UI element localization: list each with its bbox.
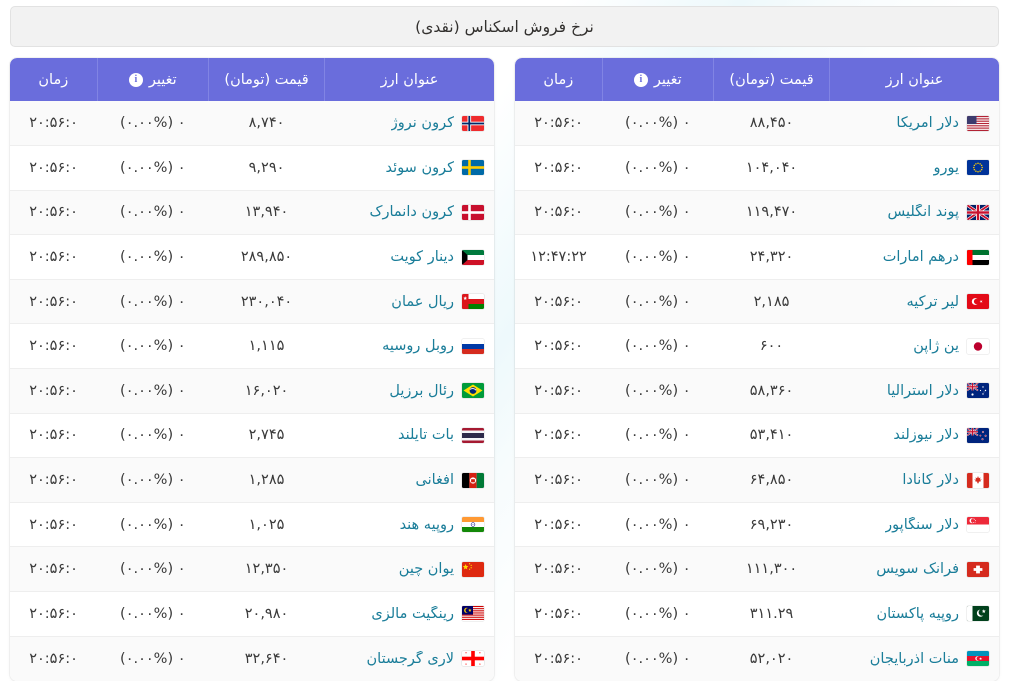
cell-change: ۰ (۰.۰۰%) [602,636,713,681]
currency-name-link[interactable]: ریال عمان [391,294,454,310]
cell-currency[interactable]: یوان چین [325,547,494,592]
currency-name-link[interactable]: کرون سوئد [386,160,454,176]
cell-currency[interactable]: روبل روسیه [325,324,494,369]
currency-name-link[interactable]: دلار سنگاپور [885,517,959,533]
info-icon[interactable]: i [634,73,648,87]
cell-change: ۰ (۰.۰۰%) [602,146,713,191]
column-header-currency-label: عنوان ارز [381,72,439,88]
table-row[interactable]: کرون نروژ۸,۷۴۰۰ (۰.۰۰%)۲۰:۵۶:۰ [10,101,494,146]
cell-change: ۰ (۰.۰۰%) [602,502,713,547]
table-row[interactable]: کرون سوئد۹,۲۹۰۰ (۰.۰۰%)۲۰:۵۶:۰ [10,146,494,191]
cell-price: ۱۱۹,۴۷۰ [713,190,829,235]
cell-change: ۰ (۰.۰۰%) [97,146,208,191]
cell-time: ۲۰:۵۶:۰ [10,101,97,146]
column-header-time-label: زمان [38,72,68,88]
currency-name-link[interactable]: ین ژاپن [913,338,959,354]
cell-time: ۲۰:۵۶:۰ [515,190,602,235]
flag-kw-icon [462,250,484,265]
currency-name-link[interactable]: درهم امارات [883,249,959,265]
cell-change: ۰ (۰.۰۰%) [97,547,208,592]
currency-name-link[interactable]: روپیه هند [400,517,454,533]
currency-name-link[interactable]: روپیه پاکستان [876,606,959,622]
cell-time: ۲۰:۵۶:۰ [515,502,602,547]
cell-time: ۲۰:۵۶:۰ [10,592,97,637]
cell-time: ۲۰:۵۶:۰ [515,279,602,324]
table-row[interactable]: دلار نیوزلند۵۳,۴۱۰۰ (۰.۰۰%)۲۰:۵۶:۰ [515,413,999,458]
table-row[interactable]: درهم امارات۲۴,۳۲۰۰ (۰.۰۰%)۱۲:۴۷:۲۲ [515,235,999,280]
cell-price: ۵۸,۳۶۰ [713,369,829,414]
cell-change: ۰ (۰.۰۰%) [97,413,208,458]
cell-price: ۱,۰۲۵ [208,502,324,547]
table-row[interactable]: دلار سنگاپور۶۹,۲۳۰۰ (۰.۰۰%)۲۰:۵۶:۰ [515,502,999,547]
cell-price: ۸۸,۴۵۰ [713,101,829,146]
cell-price: ۳۲,۶۴۰ [208,636,324,681]
flag-ca-icon [967,473,989,488]
table-row[interactable]: روپیه هند۱,۰۲۵۰ (۰.۰۰%)۲۰:۵۶:۰ [10,502,494,547]
column-header-change[interactable]: تغییرi [97,58,208,101]
table-row[interactable]: فرانک سویس۱۱۱,۳۰۰۰ (۰.۰۰%)۲۰:۵۶:۰ [515,547,999,592]
cell-change: ۰ (۰.۰۰%) [602,101,713,146]
currency-name-link[interactable]: لاری گرجستان [367,651,454,667]
cell-price: ۲۴,۳۲۰ [713,235,829,280]
cell-change: ۰ (۰.۰۰%) [602,592,713,637]
currency-name-link[interactable]: دلار استرالیا [887,383,959,399]
flag-ch-icon [967,562,989,577]
cell-time: ۲۰:۵۶:۰ [515,413,602,458]
table-row[interactable]: یوان چین۱۲,۳۵۰۰ (۰.۰۰%)۲۰:۵۶:۰ [10,547,494,592]
table-row[interactable]: دلار کانادا۶۴,۸۵۰۰ (۰.۰۰%)۲۰:۵۶:۰ [515,458,999,503]
flag-no-icon [462,116,484,131]
table-row[interactable]: پوند انگلیس۱۱۹,۴۷۰۰ (۰.۰۰%)۲۰:۵۶:۰ [515,190,999,235]
cell-change: ۰ (۰.۰۰%) [602,279,713,324]
cell-currency[interactable]: افغانی [325,458,494,503]
table-row[interactable]: کرون دانمارک۱۳,۹۴۰۰ (۰.۰۰%)۲۰:۵۶:۰ [10,190,494,235]
cell-price: ۲۳۰,۰۴۰ [208,279,324,324]
cell-currency[interactable]: لاری گرجستان [325,636,494,681]
cell-currency[interactable]: دینار کویت [325,235,494,280]
cell-currency[interactable]: ین ژاپن [830,324,999,369]
cell-currency[interactable]: کرون دانمارک [325,190,494,235]
currency-name-link[interactable]: منات آذربایجان [870,651,959,667]
cell-currency[interactable]: لیر ترکیه [830,279,999,324]
column-header-currency[interactable]: عنوان ارز [325,58,494,101]
table-right: عنوان ارزقیمت (تومان)تغییرiزماندلار آمری… [515,58,999,681]
flag-ru-icon [462,339,484,354]
flag-nz-icon [967,428,989,443]
rate-tables-container: عنوان ارزقیمت (تومان)تغییرiزماندلار آمری… [0,47,1009,681]
cell-price: ۱۶,۰۲۰ [208,369,324,414]
currency-name-link[interactable]: دلار کانادا [902,472,959,488]
cell-change: ۰ (۰.۰۰%) [97,235,208,280]
cell-change: ۰ (۰.۰۰%) [602,369,713,414]
cell-price: ۲۰,۹۸۰ [208,592,324,637]
cell-price: ۱۲,۳۵۰ [208,547,324,592]
cell-change: ۰ (۰.۰۰%) [602,190,713,235]
cell-change: ۰ (۰.۰۰%) [97,458,208,503]
table-row[interactable]: دلار استرالیا۵۸,۳۶۰۰ (۰.۰۰%)۲۰:۵۶:۰ [515,369,999,414]
table-row[interactable]: یورو۱۰۴,۰۴۰۰ (۰.۰۰%)۲۰:۵۶:۰ [515,146,999,191]
table-row[interactable]: منات آذربایجان۵۲,۰۲۰۰ (۰.۰۰%)۲۰:۵۶:۰ [515,636,999,681]
cell-price: ۲,۱۸۵ [713,279,829,324]
cell-time: ۲۰:۵۶:۰ [10,235,97,280]
column-header-change[interactable]: تغییرi [602,58,713,101]
flag-cn-icon [462,562,484,577]
currency-name-link[interactable]: روبل روسیه [382,338,454,354]
rate-table-card: عنوان ارزقیمت (تومان)تغییرiزماندلار آمری… [515,58,999,681]
table-row[interactable]: رینگیت مالزی۲۰,۹۸۰۰ (۰.۰۰%)۲۰:۵۶:۰ [10,592,494,637]
cell-time: ۲۰:۵۶:۰ [515,547,602,592]
column-header-price-label: قیمت (تومان) [729,72,813,88]
cell-price: ۵۳,۴۱۰ [713,413,829,458]
cell-price: ۵۲,۰۲۰ [713,636,829,681]
flag-us-icon [967,116,989,131]
page-title-bar: نرخ فروش اسکناس (نقدی) [10,6,999,47]
cell-currency[interactable]: بات تایلند [325,413,494,458]
cell-time: ۲۰:۵۶:۰ [515,636,602,681]
table-left: عنوان ارزقیمت (تومان)تغییرiزمانکرون نروژ… [10,58,494,681]
table-row[interactable]: روبل روسیه۱,۱۱۵۰ (۰.۰۰%)۲۰:۵۶:۰ [10,324,494,369]
cell-currency[interactable]: دلار آمریکا [830,101,999,146]
flag-az-icon [967,651,989,666]
table-row[interactable]: ریال عمان۲۳۰,۰۴۰۰ (۰.۰۰%)۲۰:۵۶:۰ [10,279,494,324]
cell-change: ۰ (۰.۰۰%) [602,235,713,280]
cell-time: ۲۰:۵۶:۰ [515,369,602,414]
cell-change: ۰ (۰.۰۰%) [97,279,208,324]
currency-name-link[interactable]: دلار نیوزلند [893,427,959,443]
cell-time: ۱۲:۴۷:۲۲ [515,235,602,280]
flag-pk-icon [967,606,989,621]
table-row[interactable]: افغانی۱,۲۸۵۰ (۰.۰۰%)۲۰:۵۶:۰ [10,458,494,503]
flag-br-icon [462,383,484,398]
currency-name-link[interactable]: کرون دانمارک [370,204,454,220]
column-header-price-label: قیمت (تومان) [224,72,308,88]
cell-change: ۰ (۰.۰۰%) [97,101,208,146]
flag-jp-icon [967,339,989,354]
cell-currency[interactable]: یورو [830,146,999,191]
cell-change: ۰ (۰.۰۰%) [97,502,208,547]
table-row[interactable]: دینار کویت۲۸۹,۸۵۰۰ (۰.۰۰%)۲۰:۵۶:۰ [10,235,494,280]
column-header-currency-label: عنوان ارز [886,72,944,88]
currency-name-link[interactable]: پوند انگلیس [887,204,959,220]
table-row[interactable]: رئال برزیل۱۶,۰۲۰۰ (۰.۰۰%)۲۰:۵۶:۰ [10,369,494,414]
cell-time: ۲۰:۵۶:۰ [10,413,97,458]
page-title: نرخ فروش اسکناس (نقدی) [415,18,594,36]
cell-price: ۱,۲۸۵ [208,458,324,503]
column-header-change-label: تغییر [149,72,177,88]
cell-price: ۱,۱۱۵ [208,324,324,369]
flag-tr-icon [967,294,989,309]
flag-in-icon [462,517,484,532]
cell-change: ۰ (۰.۰۰%) [602,458,713,503]
flag-om-icon [462,294,484,309]
cell-change: ۰ (۰.۰۰%) [602,547,713,592]
table-header-row: عنوان ارزقیمت (تومان)تغییرiزمان [515,58,999,101]
cell-time: ۲۰:۵۶:۰ [515,324,602,369]
flag-gb-icon [967,205,989,220]
cell-currency[interactable]: پوند انگلیس [830,190,999,235]
cell-currency[interactable]: دلار سنگاپور [830,502,999,547]
column-header-price[interactable]: قیمت (تومان) [713,58,829,101]
cell-currency[interactable]: فرانک سویس [830,547,999,592]
cell-change: ۰ (۰.۰۰%) [97,636,208,681]
cell-price: ۶۰۰ [713,324,829,369]
cell-currency[interactable]: روپیه هند [325,502,494,547]
currency-name-link[interactable]: رئال برزیل [389,383,454,399]
cell-price: ۶۹,۲۳۰ [713,502,829,547]
cell-currency[interactable]: دلار استرالیا [830,369,999,414]
column-header-price[interactable]: قیمت (تومان) [208,58,324,101]
flag-ae-icon [967,250,989,265]
cell-change: ۰ (۰.۰۰%) [602,324,713,369]
cell-time: ۲۰:۵۶:۰ [10,146,97,191]
cell-time: ۲۰:۵۶:۰ [515,101,602,146]
cell-time: ۲۰:۵۶:۰ [10,190,97,235]
currency-name-link[interactable]: رینگیت مالزی [371,606,454,622]
currency-name-link[interactable]: دلار آمریکا [896,115,959,131]
cell-change: ۰ (۰.۰۰%) [97,369,208,414]
currency-name-link[interactable]: فرانک سویس [876,561,959,577]
flag-af-icon [462,473,484,488]
table-row[interactable]: لاری گرجستان۳۲,۶۴۰۰ (۰.۰۰%)۲۰:۵۶:۰ [10,636,494,681]
cell-price: ۲۸۹,۸۵۰ [208,235,324,280]
cell-currency[interactable]: کرون نروژ [325,101,494,146]
column-header-time-label: زمان [543,72,573,88]
flag-th-icon [462,428,484,443]
page-root: نرخ فروش اسکناس (نقدی) عنوان ارزقیمت (تو… [0,6,1009,681]
cell-change: ۰ (۰.۰۰%) [97,592,208,637]
flag-ge-icon [462,651,484,666]
column-header-change-label: تغییر [654,72,682,88]
currency-name-link[interactable]: لیر ترکیه [907,294,960,310]
currency-name-link[interactable]: یوان چین [399,561,454,577]
cell-currency[interactable]: درهم امارات [830,235,999,280]
cell-price: ۱۱۱,۳۰۰ [713,547,829,592]
info-icon[interactable]: i [129,73,143,87]
table-row[interactable]: بات تایلند۲,۷۴۵۰ (۰.۰۰%)۲۰:۵۶:۰ [10,413,494,458]
flag-sg-icon [967,517,989,532]
cell-price: ۳۱۱.۲۹ [713,592,829,637]
cell-price: ۱۳,۹۴۰ [208,190,324,235]
cell-time: ۲۰:۵۶:۰ [515,458,602,503]
cell-time: ۲۰:۵۶:۰ [10,636,97,681]
cell-time: ۲۰:۵۶:۰ [10,502,97,547]
currency-name-link[interactable]: دینار کویت [390,249,454,265]
cell-price: ۱۰۴,۰۴۰ [713,146,829,191]
cell-price: ۸,۷۴۰ [208,101,324,146]
column-header-currency[interactable]: عنوان ارز [830,58,999,101]
cell-time: ۲۰:۵۶:۰ [10,458,97,503]
cell-change: ۰ (۰.۰۰%) [97,190,208,235]
cell-change: ۰ (۰.۰۰%) [602,413,713,458]
flag-dk-icon [462,205,484,220]
cell-currency[interactable]: منات آذربایجان [830,636,999,681]
cell-currency[interactable]: رینگیت مالزی [325,592,494,637]
cell-change: ۰ (۰.۰۰%) [97,324,208,369]
cell-time: ۲۰:۵۶:۰ [10,324,97,369]
cell-price: ۹,۲۹۰ [208,146,324,191]
cell-time: ۲۰:۵۶:۰ [515,146,602,191]
cell-currency[interactable]: کرون سوئد [325,146,494,191]
flag-se-icon [462,160,484,175]
table-row[interactable]: روپیه پاکستان۳۱۱.۲۹۰ (۰.۰۰%)۲۰:۵۶:۰ [515,592,999,637]
flag-au-icon [967,383,989,398]
cell-currency[interactable]: رئال برزیل [325,369,494,414]
column-header-time[interactable]: زمان [10,58,97,101]
flag-eu-icon [967,160,989,175]
cell-time: ۲۰:۵۶:۰ [10,279,97,324]
cell-time: ۲۰:۵۶:۰ [10,369,97,414]
cell-currency[interactable]: روپیه پاکستان [830,592,999,637]
cell-currency[interactable]: دلار نیوزلند [830,413,999,458]
table-row[interactable]: ین ژاپن۶۰۰۰ (۰.۰۰%)۲۰:۵۶:۰ [515,324,999,369]
cell-time: ۲۰:۵۶:۰ [10,547,97,592]
table-row[interactable]: دلار آمریکا۸۸,۴۵۰۰ (۰.۰۰%)۲۰:۵۶:۰ [515,101,999,146]
cell-time: ۲۰:۵۶:۰ [515,592,602,637]
currency-name-link[interactable]: کرون نروژ [391,115,454,131]
rate-table-card: عنوان ارزقیمت (تومان)تغییرiزمانکرون نروژ… [10,58,494,681]
currency-name-link[interactable]: بات تایلند [398,427,454,443]
flag-my-icon [462,606,484,621]
currency-name-link[interactable]: افغانی [416,472,455,488]
cell-price: ۶۴,۸۵۰ [713,458,829,503]
table-header-row: عنوان ارزقیمت (تومان)تغییرiزمان [10,58,494,101]
column-header-time[interactable]: زمان [515,58,602,101]
cell-currency[interactable]: ریال عمان [325,279,494,324]
cell-price: ۲,۷۴۵ [208,413,324,458]
table-row[interactable]: لیر ترکیه۲,۱۸۵۰ (۰.۰۰%)۲۰:۵۶:۰ [515,279,999,324]
cell-currency[interactable]: دلار کانادا [830,458,999,503]
currency-name-link[interactable]: یورو [933,160,959,176]
